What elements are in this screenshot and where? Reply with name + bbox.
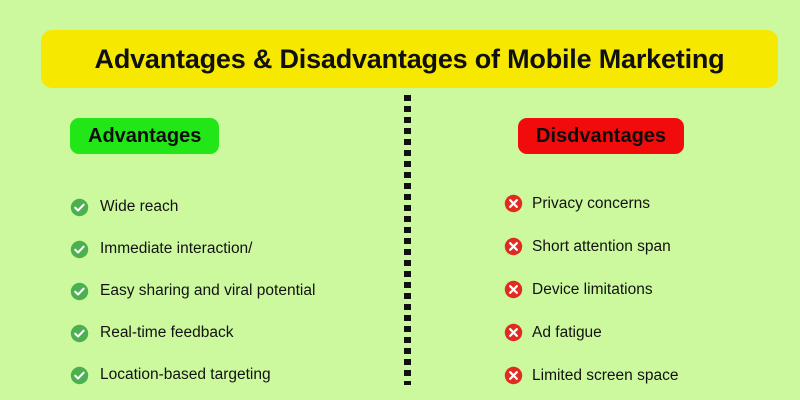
list-item: Limited screen space: [504, 354, 794, 397]
title-banner: Advantages & Disadvantages of Mobile Mar…: [41, 30, 778, 88]
list-item-label: Ad fatigue: [532, 324, 602, 342]
list-item-label: Easy sharing and viral potential: [100, 282, 315, 300]
list-item-label: Limited screen space: [532, 367, 678, 385]
list-item: Easy sharing and viral potential: [70, 270, 390, 312]
advantages-heading-label: Advantages: [88, 125, 201, 148]
list-item: Real-time feedback: [70, 312, 390, 354]
cross-circle-icon: [504, 323, 523, 342]
check-circle-icon: [70, 240, 89, 259]
cross-circle-icon: [504, 280, 523, 299]
disadvantages-heading-badge: Disdvantages: [518, 118, 684, 154]
check-circle-icon: [70, 282, 89, 301]
infographic-canvas: Advantages & Disadvantages of Mobile Mar…: [0, 0, 800, 400]
disadvantages-list: Privacy concerns Short attention span: [504, 182, 794, 397]
list-item-label: Privacy concerns: [532, 195, 650, 213]
list-item-label: Short attention span: [532, 238, 671, 256]
list-item-label: Immediate interaction/: [100, 240, 253, 258]
list-item-label: Real-time feedback: [100, 324, 234, 342]
disadvantages-heading-label: Disdvantages: [536, 125, 666, 148]
cross-circle-icon: [504, 366, 523, 385]
vertical-dotted-divider: [404, 95, 411, 385]
advantages-list: Wide reach Immediate interaction/: [70, 186, 390, 396]
check-circle-icon: [70, 198, 89, 217]
list-item: Device limitations: [504, 268, 794, 311]
list-item: Ad fatigue: [504, 311, 794, 354]
cross-circle-icon: [504, 237, 523, 256]
page-title: Advantages & Disadvantages of Mobile Mar…: [95, 44, 725, 75]
list-item: Wide reach: [70, 186, 390, 228]
check-circle-icon: [70, 366, 89, 385]
list-item: Short attention span: [504, 225, 794, 268]
check-circle-icon: [70, 324, 89, 343]
advantages-heading-badge: Advantages: [70, 118, 219, 154]
advantages-column: Advantages Wide reach: [70, 118, 390, 396]
list-item-label: Location-based targeting: [100, 366, 271, 384]
list-item: Location-based targeting: [70, 354, 390, 396]
disadvantages-column: Disdvantages Privacy concerns: [504, 118, 794, 397]
list-item-label: Device limitations: [532, 281, 653, 299]
list-item-label: Wide reach: [100, 198, 178, 216]
list-item: Privacy concerns: [504, 182, 794, 225]
cross-circle-icon: [504, 194, 523, 213]
list-item: Immediate interaction/: [70, 228, 390, 270]
